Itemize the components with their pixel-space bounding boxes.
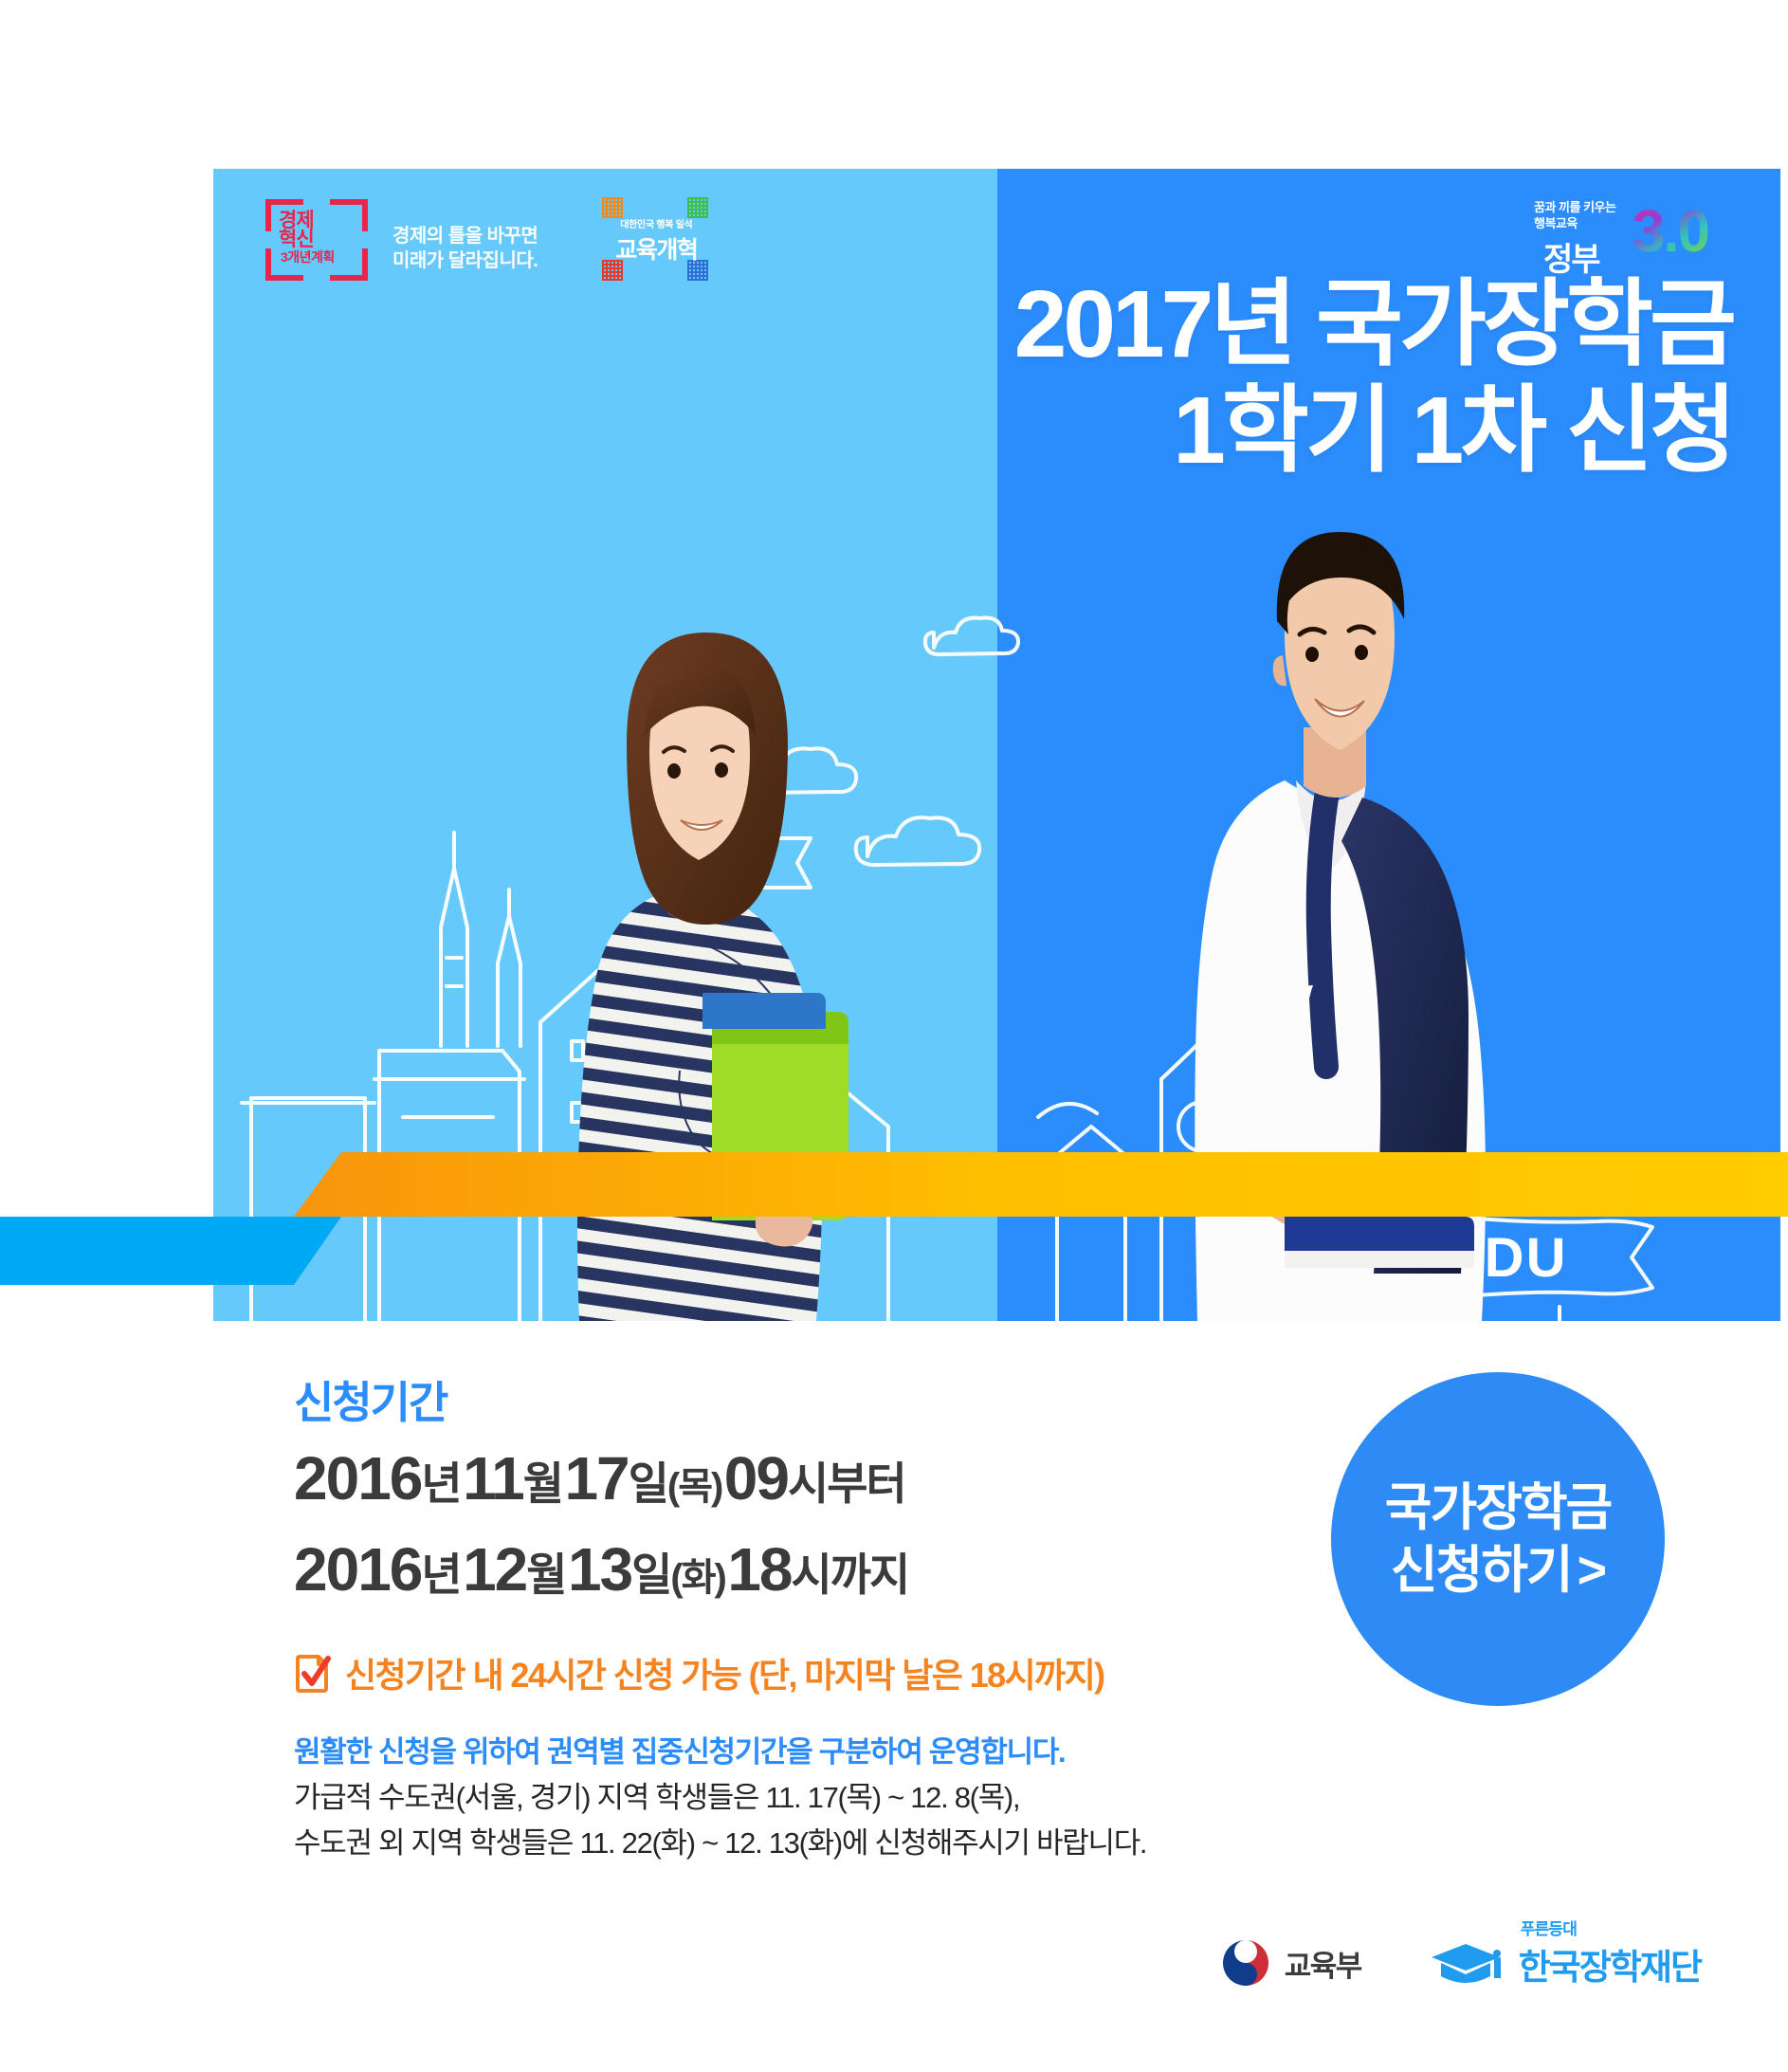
application-info-section: 신청기간 2016년 11월 17일(목) 09시부터 2016년 12월 13… [294,1377,1299,1866]
start-hour: 09 [724,1444,788,1513]
ministry-name: 교육부 [1285,1942,1361,1985]
chevron-right-icon: > [1578,1542,1606,1599]
education-reform-small-text: 대한민국 행복 일석 [620,216,692,230]
gov-tagline-line-1: 꿈과 끼를 키우는 [1534,199,1615,215]
government-30-version: 3.0 [1633,203,1708,262]
end-hour: 18 [727,1535,791,1604]
apply-note-text: 신청기간 내 24시간 신청 가능 (단, 마지막 날은 18시까지) [345,1648,1104,1697]
end-hour-suffix: 시까지 [792,1549,909,1600]
end-day: 13 [568,1535,631,1604]
poster-root: EDU 경제 혁신 3개년계획 경제의 틀을 바꾸면 미래가 달라집니다. [0,0,1788,2072]
start-year: 2016 [294,1444,421,1513]
start-hour-suffix: 시부터 [788,1458,905,1509]
details-highlight: 원활한 신청을 위하여 권역별 집중신청기간을 구분하여 운영합니다. [294,1730,1299,1775]
start-year-unit: 년 [421,1458,460,1509]
economy-logo-line3: 3개년계획 [281,250,360,264]
details-line-3: 수도권 외 지역 학생들은 11. 22(화) ~ 12. 13(화)에 신청해… [294,1821,1299,1866]
kosaf-text-block: 푸른등대 한국장학재단 [1519,1938,1701,1989]
end-month-unit: 월 [526,1549,565,1600]
apply-period-end: 2016년 12월 13일(화) 18시까지 [294,1532,1299,1623]
page-title-line-2: 1학기 1차 신청 [213,377,1733,484]
government-30-tagline: 꿈과 끼를 키우는 행복교육 [1534,199,1615,231]
kosaf-logo: 푸른등대 한국장학재단 [1428,1936,1701,1989]
start-day-unit: 일 [629,1458,667,1509]
education-reform-main-text: 교육개혁 [615,231,697,266]
government-30-logo: 꿈과 끼를 키우는 행복교육 정부 3.0 [1523,197,1712,283]
start-month-unit: 월 [523,1458,562,1509]
end-day-unit: 일 [631,1549,670,1600]
cta-line-2-text: 신청하기 [1391,1542,1572,1599]
apply-note-row: 신청기간 내 24시간 신청 가능 (단, 마지막 날은 18시까지) [294,1648,1299,1697]
page-title-line-1: 2017년 국가장학금 [213,271,1733,377]
apply-scholarship-button[interactable]: 국가장학금 신청하기> [1331,1372,1665,1706]
start-weekday: (목) [667,1466,721,1508]
ministry-of-education-logo: 교육부 [1219,1936,1361,1989]
taegeuk-icon [1219,1936,1272,1989]
graduation-cap-icon [1428,1936,1509,1989]
end-month: 12 [463,1535,526,1604]
partner-logos: 경제 혁신 3개년계획 경제의 틀을 바꾸면 미래가 달라집니다. 대한민국 행… [265,197,712,281]
end-year-unit: 년 [421,1549,460,1600]
clipboard-check-icon [294,1651,332,1695]
end-weekday: (화) [670,1557,724,1599]
cta-line-1: 국가장학금 [1385,1476,1611,1539]
economy-logo-line1: 경제 혁신 [279,211,358,249]
education-reform-logo: 대한민국 행복 일석 교육개혁 [600,197,712,281]
details-line-2: 가급적 수도권(서울, 경기) 지역 학생들은 11. 17(목) ~ 12. … [294,1775,1299,1821]
apply-period-start: 2016년 11월 17일(목) 09시부터 [294,1441,1299,1532]
tagline-line-2: 미래가 달라집니다. [392,248,538,273]
pixel-block-green-icon [687,197,708,218]
start-month: 11 [463,1444,523,1513]
end-year: 2016 [294,1535,421,1604]
kosaf-name: 한국장학재단 [1519,1948,1701,1987]
hero-banner: EDU 경제 혁신 3개년계획 경제의 틀을 바꾸면 미래가 달라집니다. [213,169,1780,1321]
footer-logos: 교육부 푸른등대 한국장학재단 [1219,1936,1701,1989]
pixel-block-orange-icon [602,197,623,218]
start-day: 17 [564,1444,628,1513]
page-title: 2017년 국가장학금 1학기 1차 신청 [213,271,1733,484]
cta-line-2: 신청하기> [1391,1539,1605,1602]
details-paragraph: 원활한 신청을 위하여 권역별 집중신청기간을 구분하여 운영합니다. 가급적 … [294,1730,1299,1866]
tagline-line-1: 경제의 틀을 바꾸면 [392,224,538,248]
kosaf-slogan: 푸른등대 [1521,1916,1577,1939]
gov-tagline-line-2: 행복교육 [1534,215,1615,231]
apply-period-label: 신청기간 [294,1377,1299,1428]
economy-innovation-logo: 경제 혁신 3개년계획 [265,199,368,281]
